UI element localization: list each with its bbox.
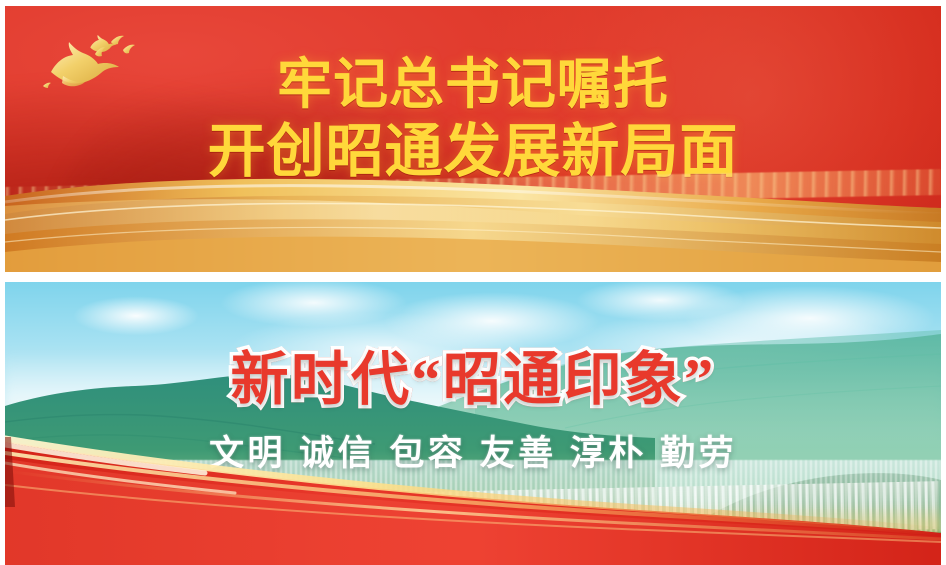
top-red-banner: 牢记总书记嘱托 开创昭通发展新局面 (5, 6, 941, 272)
top-headline-line-1: 牢记总书记嘱托 (5, 54, 941, 116)
bottom-scenic-banner: 新时代“昭通印象” 文明 诚信 包容 友善 淳朴 勤劳 (5, 282, 941, 565)
bottom-headline-text: 新时代“昭通印象” (231, 347, 716, 412)
bottom-banner-headline: 新时代“昭通印象” (5, 332, 941, 416)
poster-canvas: 牢记总书记嘱托 开创昭通发展新局面 (0, 0, 946, 565)
banner-separator (0, 272, 946, 282)
red-gold-ribbon-icon (5, 415, 941, 565)
golden-silk-wave-icon (5, 162, 941, 272)
